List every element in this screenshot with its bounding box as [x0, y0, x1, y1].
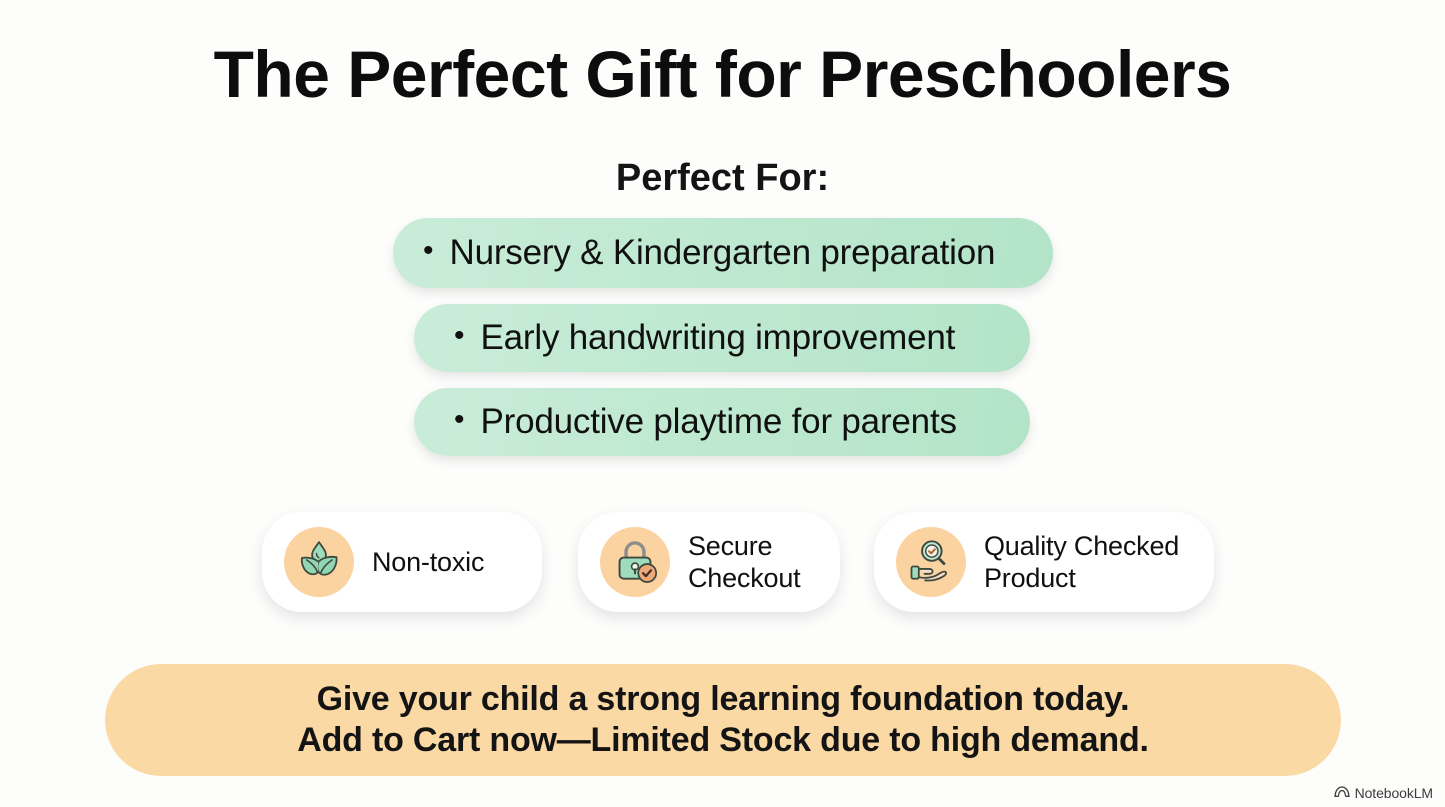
trust-badge-label-line1: Secure — [688, 531, 772, 561]
trust-badge-quality-checked: Quality Checked Product — [874, 512, 1214, 612]
bullet-icon: • — [454, 321, 465, 356]
cta-line-1: Give your child a strong learning founda… — [317, 679, 1130, 720]
benefit-pill: • Nursery & Kindergarten preparation — [393, 218, 1053, 288]
cta-banner: Give your child a strong learning founda… — [105, 664, 1341, 776]
trust-badge-label-line1: Non-toxic — [372, 547, 484, 577]
slide-canvas: The Perfect Gift for Preschoolers Perfec… — [0, 0, 1445, 807]
bullet-icon: • — [454, 405, 465, 440]
hand-magnifier-check-icon — [905, 534, 957, 591]
benefit-pill-label: Productive playtime for parents — [481, 402, 957, 442]
bullet-icon: • — [423, 236, 434, 271]
badge-icon-circle — [284, 527, 354, 597]
benefit-pill: • Productive playtime for parents — [414, 388, 1030, 456]
badge-icon-circle — [600, 527, 670, 597]
trust-badge-label: Non-toxic — [372, 546, 484, 578]
section-heading-perfect-for: Perfect For: — [0, 156, 1445, 202]
trust-badge-secure-checkout: Secure Checkout — [578, 512, 840, 612]
trust-badge-label-line2: Product — [984, 562, 1179, 594]
cta-line-2: Add to Cart now—Limited Stock due to hig… — [297, 720, 1149, 761]
trust-badge-label: Quality Checked Product — [984, 530, 1179, 595]
trust-badge-label-line2: Checkout — [688, 562, 800, 594]
eco-leaf-droplet-icon — [293, 534, 345, 591]
notebooklm-logo-icon — [1334, 784, 1350, 801]
benefit-pill-label: Nursery & Kindergarten preparation — [450, 233, 996, 273]
benefit-pill-label: Early handwriting improvement — [481, 318, 956, 358]
trust-badge-row: Non-toxic Secure Check — [0, 506, 1445, 620]
badge-icon-circle — [896, 527, 966, 597]
page-title: The Perfect Gift for Preschoolers — [0, 38, 1445, 111]
notebooklm-label: NotebookLM — [1355, 785, 1433, 801]
trust-badge-label-line1: Quality Checked — [984, 531, 1179, 561]
padlock-check-icon — [609, 534, 661, 591]
trust-badge-label: Secure Checkout — [688, 530, 800, 595]
trust-badge-non-toxic: Non-toxic — [262, 512, 542, 612]
benefit-pill: • Early handwriting improvement — [414, 304, 1030, 372]
notebooklm-watermark: NotebookLM — [1334, 784, 1433, 801]
